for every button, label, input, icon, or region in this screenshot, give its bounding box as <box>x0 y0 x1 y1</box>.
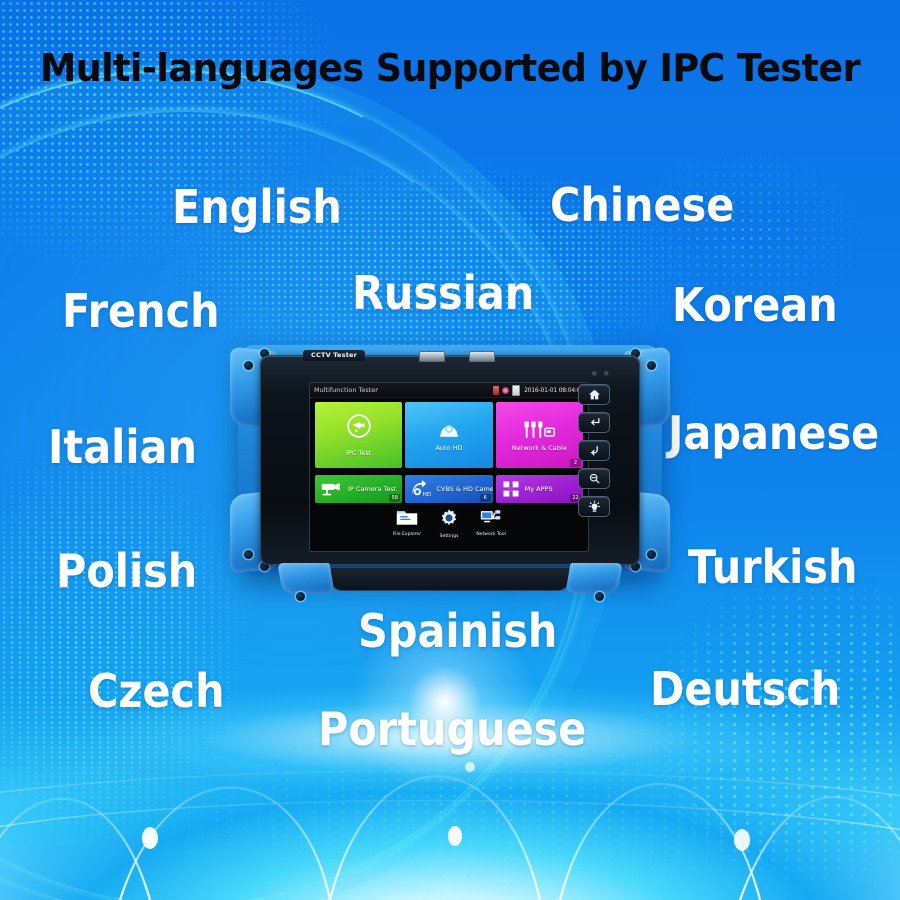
hd-camera-icon: HD <box>410 480 432 498</box>
language-label-russian: Russian <box>352 270 534 316</box>
cable-tools-icon <box>522 419 556 441</box>
case-screw <box>296 592 305 601</box>
app-tile-label: CVBS & HD Camera <box>436 485 492 493</box>
language-label-italian: Italian <box>48 424 197 470</box>
dock-item-label: Network Tool <box>476 532 506 537</box>
device-port-left <box>419 351 445 362</box>
app-tile-auto-hd[interactable]: Auto HD <box>405 402 492 468</box>
back-arrow-icon <box>587 444 602 457</box>
dome-camera-icon <box>436 419 462 441</box>
folder-icon <box>396 508 418 530</box>
bullet-camera-icon <box>320 481 344 497</box>
led-indicator <box>604 371 609 376</box>
status-leds <box>592 371 609 376</box>
case-screw <box>647 550 656 559</box>
device-foot <box>330 568 570 591</box>
language-label-spainish: Spainish <box>358 608 557 654</box>
cable-tools-icon <box>522 419 556 441</box>
language-label-turkish: Turkish <box>688 544 857 590</box>
folder-icon <box>396 508 418 526</box>
language-label-polish: Polish <box>56 548 197 594</box>
led-indicator <box>592 371 597 376</box>
gear-icon <box>439 508 459 532</box>
device-port-right <box>469 351 495 362</box>
device-screen[interactable]: Multifunction Tester 2016-01-01 08:04:00… <box>309 382 589 552</box>
network-icon <box>502 387 509 394</box>
lightbulb-icon <box>587 500 602 514</box>
dock-item-label: Settings <box>440 534 459 539</box>
app-tile-label: IP Camera Test <box>348 485 396 493</box>
language-label-french: French <box>62 288 220 334</box>
language-label-japanese: Japanese <box>668 410 879 456</box>
language-label-portuguese: Portuguese <box>318 706 586 752</box>
home-icon <box>587 388 602 401</box>
case-screw <box>244 550 253 559</box>
language-label-chinese: Chinese <box>550 182 734 228</box>
case-foot-right <box>565 563 622 593</box>
sd-card-icon <box>493 386 499 395</box>
device-body: CCTV Tester Multifunction Tester 2016 <box>260 355 640 565</box>
network-tool-icon <box>480 508 502 526</box>
app-tiles-row-1: · · ·IPC TestAuto HDNetwork & Cable2 <box>310 398 588 468</box>
screen-status-bar: Multifunction Tester 2016-01-01 08:04:00 <box>310 383 588 398</box>
screen-datetime: 2016-01-01 08:04:00 <box>524 387 584 394</box>
enter-key[interactable] <box>578 412 610 433</box>
network-tool-icon <box>480 508 502 530</box>
screen-dock: File ExplorerSettingsNetwork Tool <box>310 508 588 539</box>
page-title: Multi-languages Supported by IPC Tester <box>18 46 882 90</box>
enter-icon <box>587 416 602 429</box>
app-tile-label: Network & Cable <box>512 444 567 452</box>
dock-item-label: File Explorer <box>393 532 421 537</box>
app-tile-label: Auto HD <box>435 444 462 452</box>
app-tile-network-cable[interactable]: Network & Cable2 <box>496 402 583 468</box>
back-key[interactable] <box>578 440 610 461</box>
app-tile-label: My APPS <box>525 485 553 493</box>
case-screw <box>647 361 656 370</box>
hardware-key-column <box>577 384 611 517</box>
battery-icon <box>512 385 520 396</box>
home-key[interactable] <box>578 384 610 405</box>
app-tile-label: IPC Test <box>346 449 371 457</box>
ipc-camera-icon <box>346 413 372 439</box>
gear-icon <box>439 508 459 528</box>
promo-banner: Multi-languages Supported by IPC Tester … <box>0 0 900 900</box>
app-tile-cvbs-hd-camera[interactable]: HDCVBS & HD Camera6 <box>405 475 492 503</box>
app-tile-ip-camera-test[interactable]: IP Camera Test58 <box>315 475 402 503</box>
zoom-key[interactable] <box>578 468 610 489</box>
language-label-czech: Czech <box>88 668 225 714</box>
app-tile-ipc-test[interactable]: · · ·IPC Test <box>315 402 402 468</box>
app-tiles-row-2: IP Camera Test58HDCVBS & HD Camera6My AP… <box>310 471 588 503</box>
bullet-camera-icon <box>320 481 344 497</box>
app-tile-sublabel: · · · <box>353 441 365 446</box>
svg-text:HD: HD <box>423 492 431 498</box>
language-label-korean: Korean <box>672 282 838 328</box>
apps-grid-icon <box>501 479 521 499</box>
language-label-english: English <box>172 184 342 230</box>
app-tile-my-apps[interactable]: My APPS22 <box>496 475 583 503</box>
app-tile-badge: 6 <box>480 494 491 502</box>
case-screw <box>595 592 604 601</box>
ipc-tester-device: CCTV Tester Multifunction Tester 2016 <box>238 345 662 575</box>
app-tile-badge: 58 <box>389 494 400 502</box>
ipc-camera-icon <box>346 413 372 439</box>
dock-item-settings[interactable]: Settings <box>432 508 466 539</box>
apps-grid-icon <box>501 479 521 499</box>
magnifier-minus-icon <box>587 472 602 485</box>
case-screw <box>244 361 253 370</box>
dock-item-network-tool[interactable]: Network Tool <box>474 508 508 539</box>
dome-camera-icon <box>436 419 462 441</box>
language-label-deutsch: Deutsch <box>650 666 840 712</box>
device-brand-label: CCTV Tester <box>303 350 365 361</box>
case-foot-left <box>277 563 334 593</box>
screen-title: Multifunction Tester <box>314 386 378 394</box>
backlight-key[interactable] <box>578 496 610 517</box>
hd-camera-icon: HD <box>410 480 432 498</box>
dock-item-file-explorer[interactable]: File Explorer <box>390 508 424 539</box>
